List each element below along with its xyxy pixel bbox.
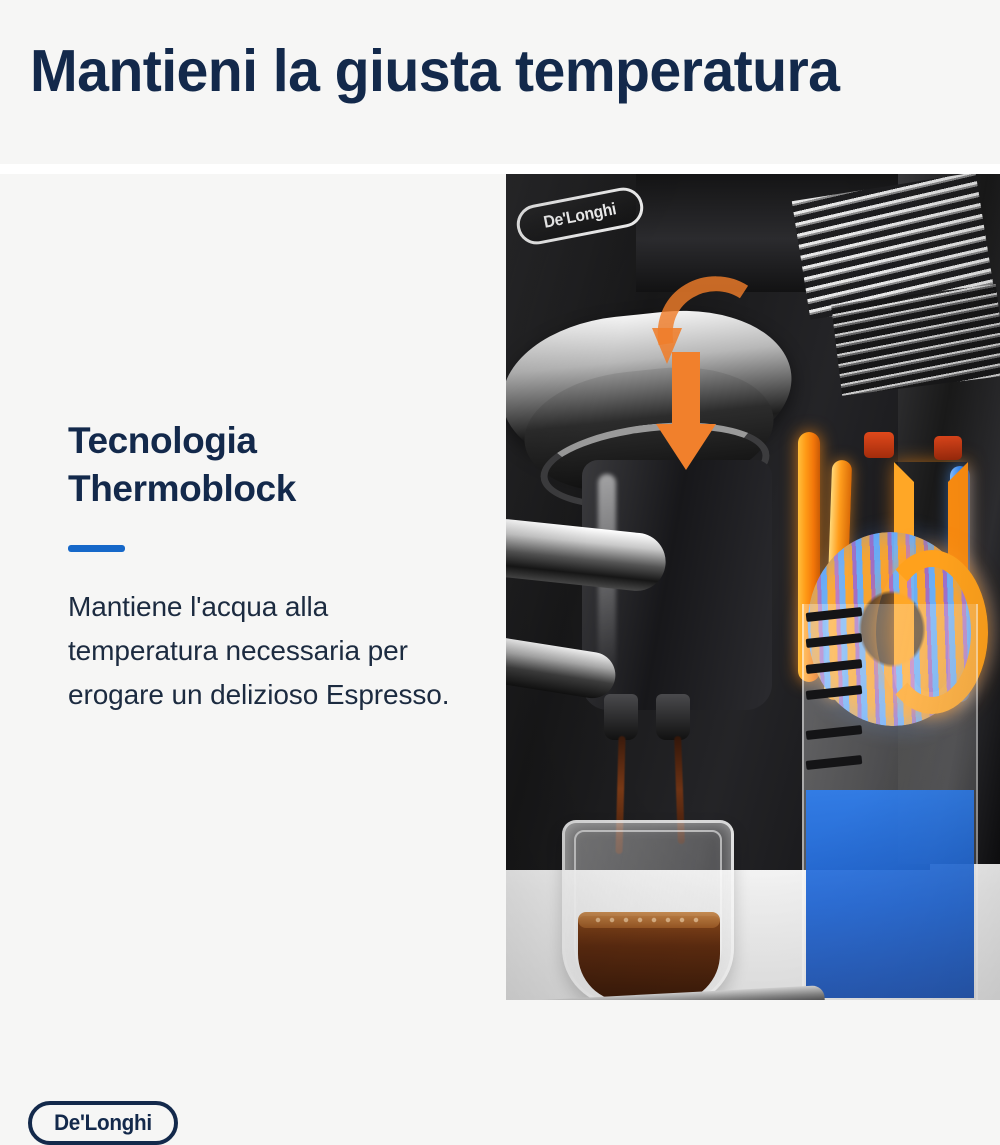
coffee-spout-right	[656, 694, 690, 740]
coffee-spout-left	[604, 694, 638, 740]
feature-text-column: Tecnologia Thermoblock Mantiene l'acqua …	[0, 174, 506, 1000]
feature-description: Mantiene l'acqua alla temperatura necess…	[68, 585, 458, 717]
down-flow-arrow	[654, 352, 718, 474]
tube-clamp-left	[864, 432, 894, 458]
delonghi-logo: De'Longhi	[28, 1101, 178, 1145]
page-root: Mantieni la giusta temperatura Tecnologi…	[0, 0, 1000, 1000]
delonghi-logo-text: De'Longhi	[54, 1110, 152, 1136]
vent-grille-secondary	[831, 284, 1000, 396]
feature-heading: Tecnologia Thermoblock	[68, 417, 448, 513]
tube-clamp-right	[934, 436, 962, 460]
photo-composite: De'Longhi	[506, 174, 1000, 1000]
espresso-crema-bubbles	[592, 916, 704, 923]
content-area: Tecnologia Thermoblock Mantiene l'acqua …	[0, 174, 1000, 1000]
machine-delonghi-badge-text: De'Longhi	[542, 199, 618, 233]
tank-hinge-stack	[806, 610, 864, 810]
water-tank-fill	[806, 790, 974, 998]
espresso-liquid	[578, 916, 720, 1000]
accent-divider	[68, 545, 125, 552]
page-title: Mantieni la giusta temperatura	[30, 36, 932, 106]
product-photo: De'Longhi	[506, 174, 1000, 1000]
header-divider	[0, 164, 1000, 174]
header: Mantieni la giusta temperatura	[0, 0, 1000, 164]
